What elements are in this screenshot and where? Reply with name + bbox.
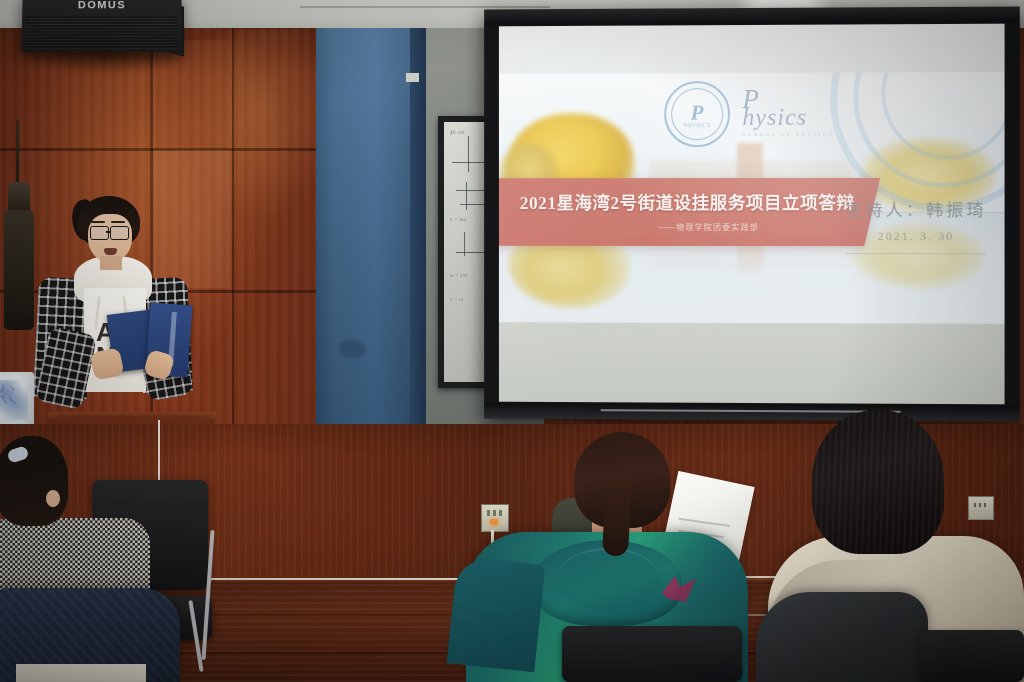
audience-center-ponytail	[602, 477, 632, 556]
screen-top-bar	[484, 6, 1020, 25]
wordmark-word: hysics	[742, 105, 834, 132]
seal-letter: P	[691, 100, 704, 125]
wordmark-tagline: SCHOOL OF PHYSICS	[742, 133, 834, 138]
slide-host-block: 主持人：韩振琦 2021. 3. 30	[845, 195, 986, 253]
seal-caption: PHYSICS	[683, 124, 710, 130]
pillar-edge	[410, 28, 426, 428]
foreground-paper	[16, 664, 146, 682]
pillar-scuff	[340, 340, 366, 358]
slide-banner-subtitle: ——物理学院团委实践部	[658, 222, 759, 233]
whiteboard-note: F = ma	[450, 218, 466, 223]
screen-bottom-bar	[484, 403, 1020, 422]
glasses-lens-right	[110, 226, 129, 240]
mic-body	[4, 210, 34, 330]
speaker-brand-label: DOMUS	[78, 0, 126, 11]
presenter-neck	[100, 256, 122, 270]
audience-center-hood-inner	[556, 548, 660, 612]
screen-surface: P PHYSICS P hysics SCHOOL OF PHYSICS 项目展…	[499, 24, 1005, 405]
audience-center-sleeve	[447, 556, 546, 673]
wall-panel-seam	[232, 28, 234, 428]
screen-blank-top	[499, 24, 1005, 74]
audience-center-chair[interactable]	[562, 626, 742, 682]
slide-date: 2021. 3. 30	[845, 229, 986, 244]
speaker-grille	[25, 16, 178, 49]
whiteboard-note: ω = 2πf	[450, 274, 467, 279]
slide-host-rule	[845, 253, 986, 254]
slide-host-name: 主持人：韩振琦	[845, 195, 986, 220]
ceiling-seam	[300, 6, 550, 8]
physics-seal-logo: P PHYSICS	[664, 81, 730, 147]
wall-panel-highlight	[154, 150, 230, 288]
blue-pillar	[316, 28, 424, 428]
power-cable	[158, 420, 160, 434]
audience-right-foreground-coat	[756, 592, 928, 682]
projection-screen: P PHYSICS P hysics SCHOOL OF PHYSICS 项目展…	[484, 6, 1020, 421]
outlet-indicator-light	[490, 519, 498, 525]
presenter-mouth	[104, 248, 117, 255]
presenter-eyebrow	[91, 221, 105, 223]
whiteboard-note: ∮E·dA	[450, 130, 465, 136]
domus-loudspeaker: DOMUS	[21, 0, 182, 52]
slide-banner-content: 2021星海湾2号街道设挂服务项目立项答辩 ——物理学院团委实践部	[499, 178, 872, 246]
presentation-slide: P PHYSICS P hysics SCHOOL OF PHYSICS 项目展…	[499, 72, 1005, 324]
whiteboard-mark	[468, 136, 469, 172]
whiteboard-mark	[460, 204, 486, 205]
mic-stand	[16, 120, 19, 190]
vase-motif: 丿丶乁乀	[0, 384, 18, 406]
outlet-sockets	[487, 510, 503, 516]
presenter-eyebrow	[111, 221, 125, 223]
whiteboard-mark	[456, 252, 486, 253]
slide-banner-title: 2021星海湾2号街道设挂服务项目立项答辩	[520, 190, 855, 215]
audience-right-hair	[812, 410, 944, 554]
pillar-tab	[406, 73, 419, 82]
physics-wordmark: P hysics SCHOOL OF PHYSICS	[742, 88, 834, 138]
whiteboard-mark	[466, 182, 467, 210]
lecture-hall-photo: ∮E·dA F = ma ω = 2πf v = λf	[0, 0, 1024, 682]
screen-blank-bottom	[499, 322, 1005, 404]
glasses-bridge	[106, 231, 111, 233]
audience-left-ear	[46, 490, 60, 507]
wall-power-outlet	[481, 504, 509, 532]
slide-title-banner: 2021星海湾2号街道设挂服务项目立项答辩 ——物理学院团委实践部	[499, 178, 880, 246]
paper-line	[678, 518, 730, 527]
glasses-lens-left	[90, 226, 109, 240]
speaker-shadow	[24, 50, 192, 74]
wall-power-outlet-right	[968, 496, 994, 520]
whiteboard-note: v = λf	[450, 298, 464, 303]
audience-right-chair[interactable]	[920, 630, 1024, 682]
